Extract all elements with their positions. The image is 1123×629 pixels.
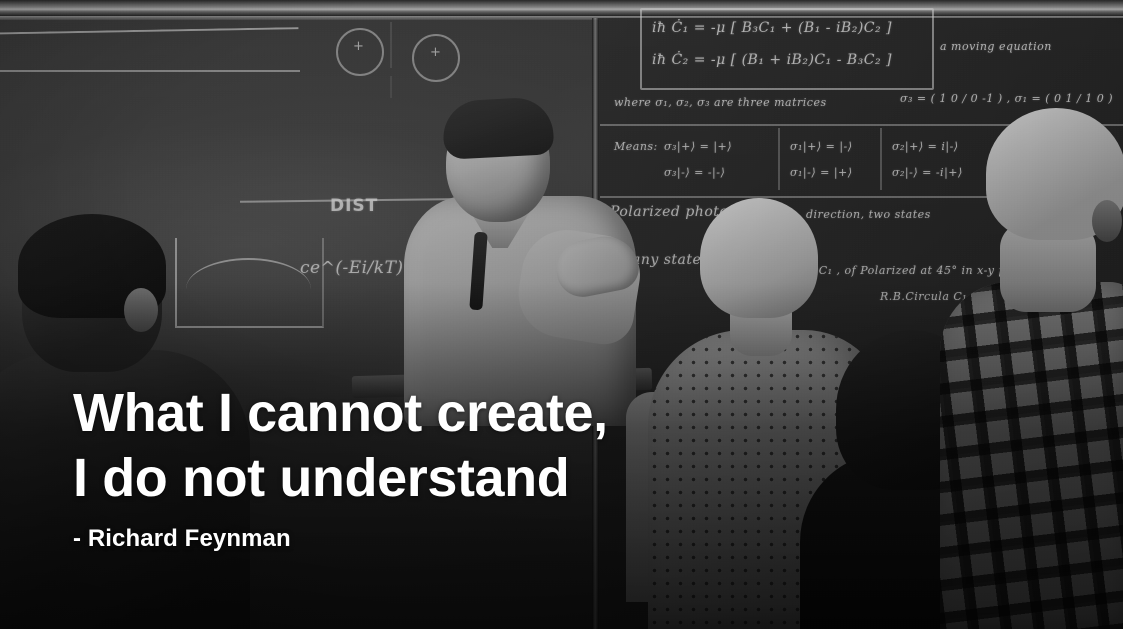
chalk-dist-label: DIST: [330, 196, 378, 216]
chalk-tick-2: [390, 76, 392, 98]
quote-line-1: What I cannot create,: [73, 381, 773, 446]
chalk-dirac-3: σ₁|+⟩ = |-⟩: [790, 140, 853, 153]
blackboard-top-rail: [0, 0, 1123, 16]
chalk-equation-line-2: iħ Ċ₂ = -μ [ (B₁ + iB₂)C₁ - B₃C₂ ]: [652, 52, 892, 68]
chalk-means-label: Means:: [614, 140, 658, 153]
chalk-plus-1: +: [353, 39, 364, 54]
chalk-dirac-4: σ₁|-⟩ = |+⟩: [790, 166, 853, 179]
plaid-pattern: [940, 282, 1123, 629]
chalk-lower-right-1: |+⟩C₁ , of Polarized at 45° in x-y plane: [800, 264, 1032, 277]
chalk-dirac-1: σ₃|+⟩ = |+⟩: [664, 140, 732, 153]
quote-line-2: I do not understand: [73, 446, 773, 511]
chalk-dirac-5: σ₂|+⟩ = i|-⟩: [892, 140, 959, 153]
chalk-distribution-hump: [186, 258, 311, 320]
student-plaid-shirt: [940, 282, 1123, 629]
chalk-moving-equation-note: a moving equation: [940, 40, 1052, 53]
chalk-direction-two-states: direction, two states: [806, 208, 931, 221]
chalk-matrix-values: σ₃ = ( 1 0 / 0 -1 ) , σ₁ = ( 0 1 / 1 0 ): [900, 92, 1113, 105]
chalk-plus-2: +: [430, 45, 441, 60]
chalk-dirac-6: σ₂|-⟩ = -i|+⟩: [892, 166, 963, 179]
student-left-ear: [124, 288, 158, 332]
chalk-column-divider-2: [880, 128, 882, 190]
student-woman-hair: [700, 198, 818, 318]
chalk-matrices-note: where σ₁, σ₂, σ₃ are three matrices: [614, 96, 827, 109]
quote-attribution: - Richard Feynman: [73, 525, 291, 553]
chalk-equation-line-1: iħ Ċ₁ = -μ [ B₃C₁ + (B₁ - iB₂)C₂ ]: [652, 20, 892, 36]
quote-image: + + + DIST ce^(-Ei/kT) iħ Ċ₁ = -μ [ B₃C…: [0, 0, 1123, 629]
quote-text-block: What I cannot create, I do not understan…: [73, 381, 773, 511]
chalk-any-state: any state: [632, 252, 701, 268]
student-plaid-ear: [1092, 200, 1122, 242]
chalk-column-divider-1: [778, 128, 780, 190]
chalk-dirac-2: σ₃|-⟩ = -|-⟩: [664, 166, 725, 179]
chalk-tick-1: [390, 22, 392, 68]
chalk-boltzmann-factor: ce^(-Ei/kT): [300, 258, 404, 278]
